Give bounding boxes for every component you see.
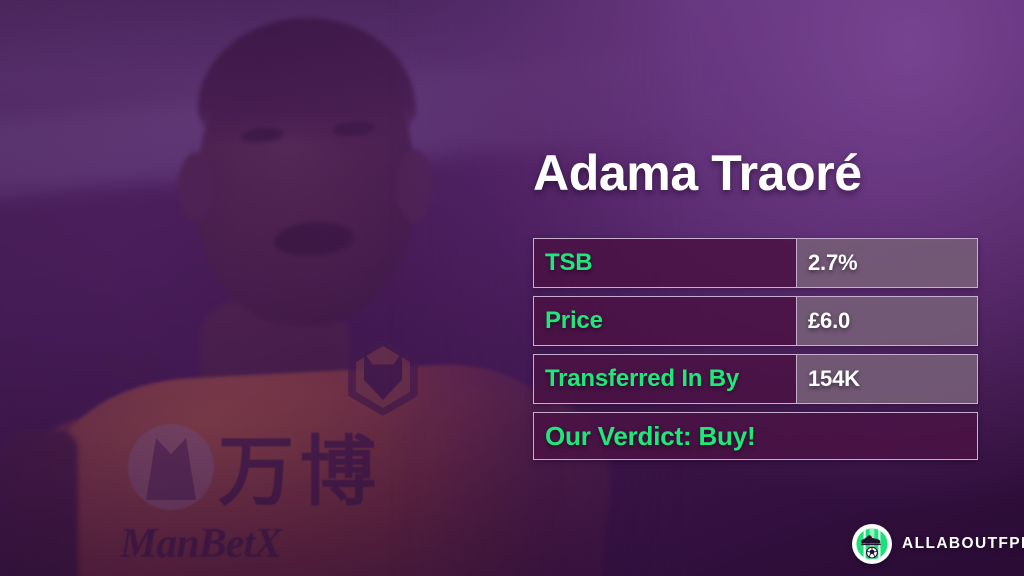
player-stat-card: CASTORE 万博 ManBetX Adama Traoré TSB 2.7%… (0, 0, 1024, 576)
stat-label-price: Price (534, 297, 797, 345)
football-boot-and-ball-badge-icon (852, 524, 892, 564)
verdict-row: Our Verdict: Buy! (533, 412, 978, 460)
table-row: Price £6.0 (533, 296, 978, 346)
site-logo: ALLABOUTFPL (852, 524, 1024, 564)
table-row: TSB 2.7% (533, 238, 978, 288)
stat-value-price: £6.0 (797, 297, 977, 345)
card-content: Adama Traoré TSB 2.7% Price £6.0 Transfe… (533, 0, 978, 576)
stat-label-tsb: TSB (534, 239, 797, 287)
verdict-text: Our Verdict: Buy! (534, 413, 977, 459)
player-name-title: Adama Traoré (533, 148, 862, 198)
stats-table: TSB 2.7% Price £6.0 Transferred In By 15… (533, 238, 978, 460)
site-logo-text: ALLABOUTFPL (902, 535, 1024, 553)
table-row: Transferred In By 154K (533, 354, 978, 404)
stat-value-transferred-in-by: 154K (797, 355, 977, 403)
stat-label-transferred-in-by: Transferred In By (534, 355, 797, 403)
stat-value-tsb: 2.7% (797, 239, 977, 287)
